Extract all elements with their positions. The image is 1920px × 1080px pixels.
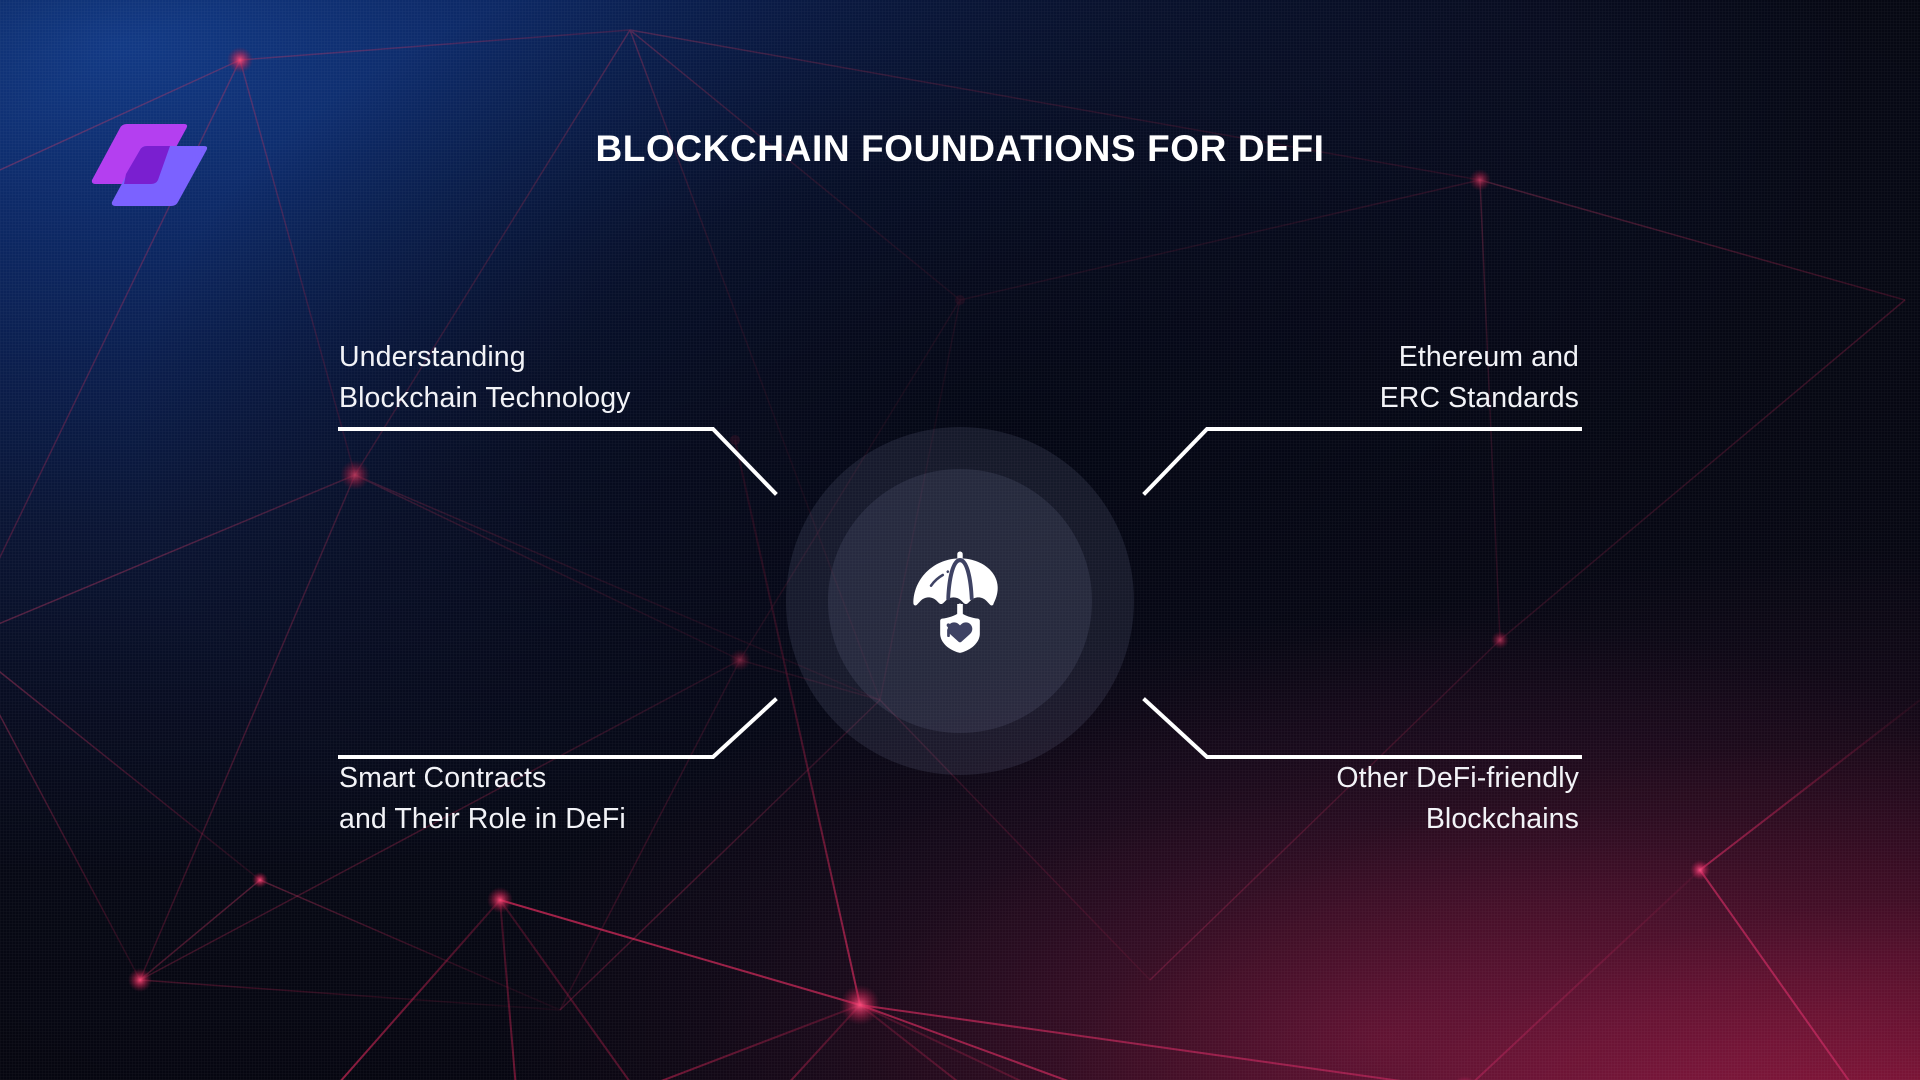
connector-bottom-left [340,700,775,757]
connector-bottom-right [1145,700,1580,757]
slide-canvas: Blockchain Foundations for DeFi [0,0,1920,1080]
label-understanding-blockchain-technology: Understanding Blockchain Technology [339,337,631,419]
label-smart-contracts-and-their-role: Smart Contracts and Their Role in DeFi [339,758,626,840]
center-medallion [786,427,1134,775]
label-other-defi-friendly-blockchains: Other DeFi-friendly Blockchains [1336,758,1579,840]
connector-top-right [1145,429,1580,493]
label-ethereum-and-erc-standards: Ethereum and ERC Standards [1380,337,1579,419]
connector-top-left [340,429,775,493]
center-medallion-inner [828,469,1092,733]
umbrella-shield-icon [901,542,1019,660]
